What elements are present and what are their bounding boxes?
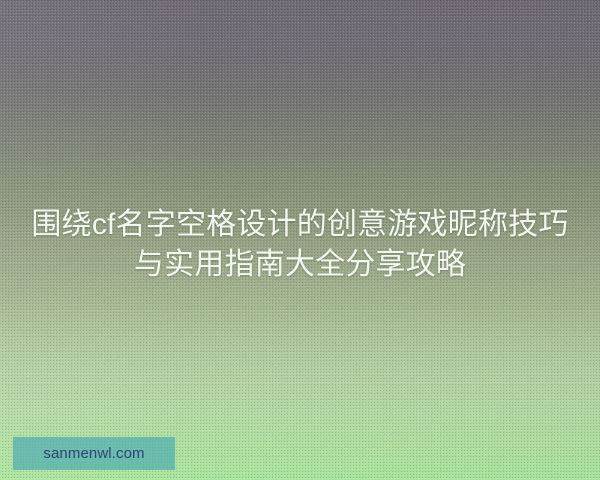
cover-banner: 围绕cf名字空格设计的创意游戏昵称技巧与实用指南大全分享攻略 sanmenwl.… (0, 0, 600, 480)
headline-title: 围绕cf名字空格设计的创意游戏昵称技巧与实用指南大全分享攻略 (0, 205, 600, 285)
site-watermark-label: sanmenwl.com (43, 446, 144, 461)
site-watermark-badge: sanmenwl.com (13, 437, 175, 470)
